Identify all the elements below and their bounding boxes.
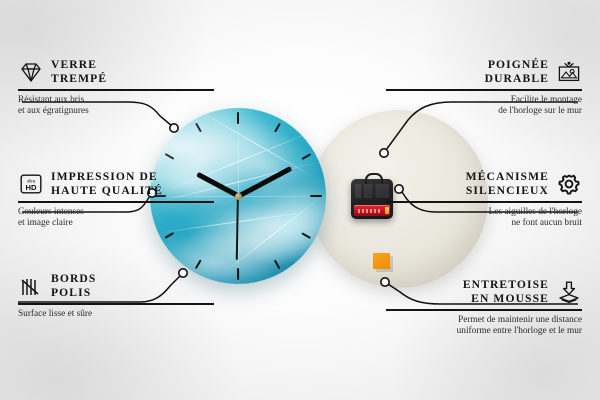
hanging-frame-icon — [556, 60, 582, 84]
callout-title-line1: MÉCANISME — [466, 170, 549, 184]
callout-title-line2: EN MOUSSE — [463, 292, 549, 306]
callout-rule — [18, 201, 214, 203]
callout-title-line1: ENTRETOISE — [463, 278, 549, 292]
callout-desc-line1: Résistant aux bris — [18, 95, 214, 106]
callout-rule — [386, 309, 582, 311]
callout-tempered-glass: VERRE TREMPÉ Résistant aux bris et aux é… — [18, 58, 214, 117]
callout-title-line2: SILENCIEUX — [466, 184, 549, 198]
callout-desc-line1: Facilite le montage — [386, 95, 582, 106]
callout-desc-line2: de l'horloge sur le mur — [386, 106, 582, 117]
battery-label — [358, 209, 380, 213]
polished-edges-icon — [18, 274, 44, 298]
callout-desc-line2: ne font aucun bruit — [386, 218, 582, 229]
infographic-canvas: VERRE TREMPÉ Résistant aux bris et aux é… — [0, 0, 600, 400]
callout-durable-handle: POIGNÉE DURABLE Facilite le montage de l… — [386, 58, 582, 117]
callout-title-line1: POIGNÉE — [485, 58, 549, 72]
foam-spacer — [373, 253, 390, 269]
callout-title-line1: VERRE — [51, 58, 107, 72]
mechanism-housing-detail — [355, 184, 389, 198]
callout-desc-line1: Les aiguilles de l'horloge — [386, 207, 582, 218]
callout-desc-line2: et image claire — [18, 218, 214, 229]
battery — [354, 205, 390, 216]
callout-rule — [386, 89, 582, 91]
callout-title-line2: POLIS — [51, 286, 96, 300]
callout-hd-print: ultra HD IMPRESSION DE HAUTE QUALITÉ Cou… — [18, 170, 214, 229]
callout-silent-mechanism: MÉCANISME SILENCIEUX Les aiguilles de l'… — [386, 170, 582, 229]
callout-title-line2: HAUTE QUALITÉ — [51, 184, 163, 198]
gear-icon — [556, 172, 582, 196]
hanging-handle — [365, 173, 383, 184]
callout-title-line2: DURABLE — [485, 72, 549, 86]
press-down-layers-icon — [556, 280, 582, 304]
ultra-hd-icon: ultra HD — [18, 172, 44, 196]
callout-title-line2: TREMPÉ — [51, 72, 107, 86]
callout-polished-edges: BORDS POLIS Surface lisse et sûre — [18, 272, 214, 320]
diamond-icon — [18, 60, 44, 84]
callout-rule — [386, 201, 582, 203]
callout-title-line1: BORDS — [51, 272, 96, 286]
callout-desc-line1: Couleurs intenses — [18, 207, 214, 218]
callout-desc-line2: uniforme entre l'horloge et le mur — [386, 326, 582, 337]
svg-text:HD: HD — [26, 183, 37, 192]
callout-rule — [18, 89, 214, 91]
callout-rule — [18, 303, 214, 305]
callout-desc-line2: et aux égratignures — [18, 106, 214, 117]
callout-foam-spacer: ENTRETOISE EN MOUSSE Permet de maintenir… — [386, 278, 582, 337]
callout-desc-line1: Permet de maintenir une distance — [386, 315, 582, 326]
callout-title-line1: IMPRESSION DE — [51, 170, 163, 184]
callout-desc-line1: Surface lisse et sûre — [18, 309, 214, 320]
